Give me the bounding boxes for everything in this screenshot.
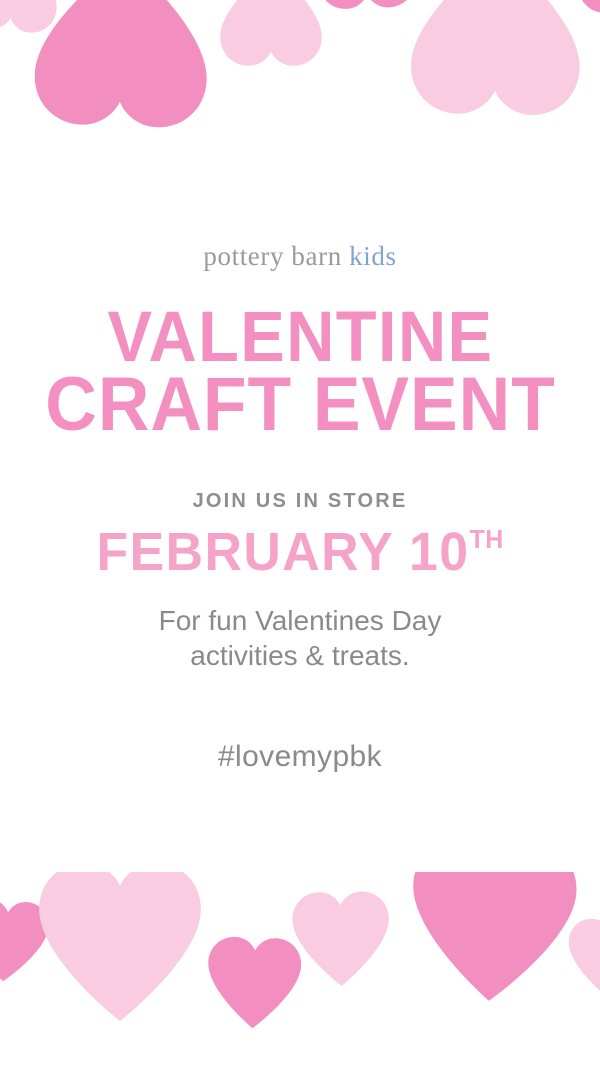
event-hashtag: #lovemypbk <box>218 740 382 774</box>
headline-line-1: VALENTINE <box>45 305 555 370</box>
poster-content: pottery barn kids VALENTINE CRAFT EVENT … <box>0 0 600 1067</box>
valentine-event-poster: pottery barn kids VALENTINE CRAFT EVENT … <box>0 0 600 1067</box>
headline-line-2: CRAFT EVENT <box>45 370 555 440</box>
event-description-line-2: activities & treats. <box>159 638 442 673</box>
event-date: FEBRUARY 10TH <box>96 525 503 579</box>
event-date-monthday: FEBRUARY 10 <box>96 522 469 582</box>
join-us-label: JOIN US IN STORE <box>193 490 408 513</box>
brand-logo-secondary: kids <box>349 241 396 271</box>
brand-logo-primary: pottery barn <box>203 241 341 271</box>
event-description-line-1: For fun Valentines Day <box>159 603 442 638</box>
event-description: For fun Valentines Day activities & trea… <box>159 603 442 674</box>
brand-logo: pottery barn kids <box>203 243 396 270</box>
event-date-suffix: TH <box>469 524 503 554</box>
event-headline: VALENTINE CRAFT EVENT <box>45 305 555 440</box>
